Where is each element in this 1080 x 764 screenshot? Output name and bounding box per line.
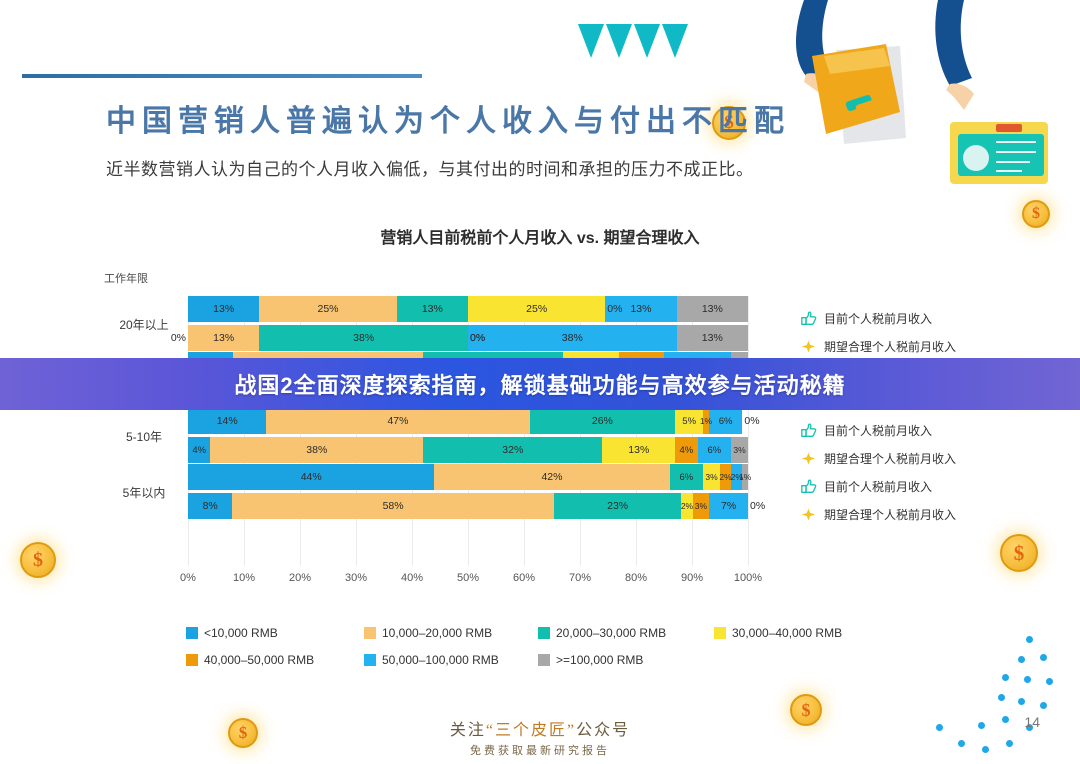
series-callout-label: 目前个人税前月收入 — [824, 422, 932, 439]
bar-segment[interactable]: 14% — [188, 408, 266, 434]
bar-segment[interactable]: 58% — [232, 493, 554, 519]
watermark-brand: 三个皮匠 — [495, 722, 567, 739]
x-axis-tick: 30% — [345, 572, 367, 584]
watermark-subtext: 免费获取最新研究报告 — [0, 742, 1080, 758]
bar-segment[interactable]: 47% — [266, 408, 529, 434]
legend-row: 40,000–50,000 RMB50,000–100,000 RMB>=100… — [186, 653, 806, 669]
promo-banner[interactable]: 战国2全面深度探索指南，解锁基础功能与高效参与活动秘籍 — [0, 358, 1080, 410]
watermark-quote-open: “ — [486, 722, 495, 739]
x-axis-tick: 70% — [569, 572, 591, 584]
watermark-suffix: 公众号 — [576, 722, 630, 739]
promo-banner-text: 战国2全面深度探索指南，解锁基础功能与高效参与活动秘籍 — [234, 368, 845, 400]
hands-documents-illustration — [760, 0, 1080, 200]
x-axis-tick: 10% — [233, 572, 255, 584]
stacked-bar[interactable]: 14%47%26%5%1%6%0% — [188, 408, 748, 434]
bar-segment-label: 23% — [607, 500, 628, 512]
legend-item[interactable]: 20,000–30,000 RMB — [538, 626, 666, 640]
bar-segment[interactable]: 6% — [670, 464, 704, 490]
bar-segment[interactable]: 6% — [709, 408, 743, 434]
x-axis: 0%10%20%30%40%50%60%70%80%90%100% — [188, 572, 748, 592]
legend-item[interactable]: 10,000–20,000 RMB — [364, 626, 492, 640]
bar-segment-label: 38% — [562, 332, 583, 344]
bar-segment-label: 42% — [541, 471, 562, 483]
bar-segment-label: 58% — [383, 500, 404, 512]
bar-segment[interactable]: 2% — [720, 464, 731, 490]
x-axis-tick: 0% — [180, 572, 196, 584]
bar-segment-label: 4% — [192, 445, 206, 456]
bar-segment-label: 0% — [171, 332, 186, 344]
bar-segment-label: 2% — [681, 501, 693, 511]
bar-segment-label: 0% — [750, 500, 765, 512]
bar-segment[interactable]: 3% — [703, 464, 720, 490]
star-burst-icon — [800, 451, 817, 466]
series-callout-label: 期望合理个人税前月收入 — [824, 506, 956, 523]
bar-segment[interactable]: 13% — [188, 296, 259, 322]
bar-segment[interactable]: 32% — [423, 437, 602, 463]
bar-segment[interactable]: 6% — [698, 437, 732, 463]
bar-segment[interactable]: 4% — [675, 437, 697, 463]
legend-label: 40,000–50,000 RMB — [204, 653, 314, 667]
bar-segment-label: 5% — [682, 416, 696, 427]
series-callout-label: 期望合理个人税前月收入 — [824, 338, 956, 355]
series-callout-expected-income: 期望合理个人税前月收入 — [800, 450, 956, 467]
bar-segment[interactable]: 13% — [602, 437, 675, 463]
x-axis-tick: 20% — [289, 572, 311, 584]
bar-segment[interactable]: 3% — [731, 437, 748, 463]
bar-segment[interactable]: 38% — [210, 437, 423, 463]
x-axis-tick: 90% — [681, 572, 703, 584]
bar-segment-label: 0% — [470, 332, 485, 344]
bar-segment[interactable]: 3% — [693, 493, 710, 519]
legend-row: <10,000 RMB10,000–20,000 RMB20,000–30,00… — [186, 626, 806, 642]
x-axis-tick: 50% — [457, 572, 479, 584]
bar-segment[interactable]: 42% — [434, 464, 669, 490]
stacked-bar[interactable]: 0%13%38%0%0%38%13% — [188, 325, 748, 351]
y-axis-label: 20年以上 — [100, 316, 188, 333]
bar-segment[interactable]: 8% — [188, 493, 232, 519]
bar-segment-label: 6% — [719, 416, 733, 427]
bar-segment[interactable]: 1% — [742, 464, 748, 490]
bar-segment[interactable]: 26% — [530, 408, 676, 434]
legend-label: <10,000 RMB — [204, 626, 278, 640]
bar-segment[interactable]: 13% — [188, 325, 259, 351]
bar-segment-label: 25% — [526, 303, 547, 315]
y-axis-label: 5年以内 — [100, 484, 188, 501]
legend-item[interactable]: <10,000 RMB — [186, 626, 278, 640]
legend-label: 10,000–20,000 RMB — [382, 626, 492, 640]
series-callout-label: 目前个人税前月收入 — [824, 310, 932, 327]
bar-segment-label: 25% — [318, 303, 339, 315]
legend-item[interactable]: 30,000–40,000 RMB — [714, 626, 842, 640]
thumbs-up-icon — [800, 311, 817, 326]
bar-segment[interactable]: 23% — [554, 493, 682, 519]
legend-swatch — [714, 627, 726, 639]
bar-segment-label: 38% — [306, 444, 327, 456]
bar-segment-label: 6% — [680, 472, 694, 483]
watermark: 关注“三个皮匠”公众号 免费获取最新研究报告 — [0, 716, 1080, 758]
series-callout-expected-income: 期望合理个人税前月收入 — [800, 506, 956, 523]
bar-segment-label: 13% — [628, 444, 649, 456]
legend-item[interactable]: >=100,000 RMB — [538, 653, 643, 667]
legend-label: 20,000–30,000 RMB — [556, 626, 666, 640]
watermark-quote-close: ” — [567, 722, 576, 739]
legend-label: 30,000–40,000 RMB — [732, 626, 842, 640]
bar-segment[interactable]: 7% — [709, 493, 748, 519]
star-burst-icon — [800, 507, 817, 522]
x-axis-tick: 80% — [625, 572, 647, 584]
bar-segment[interactable]: 38% — [468, 325, 677, 351]
bar-segment-label: 14% — [217, 415, 238, 427]
bar-segment-label: 7% — [721, 500, 736, 512]
bar-segment-label: 1% — [700, 416, 712, 426]
legend-swatch — [364, 654, 376, 666]
y-axis-label: 5-10年 — [100, 428, 188, 445]
legend-swatch — [538, 654, 550, 666]
x-axis-tick: 60% — [513, 572, 535, 584]
chart-plot-area: 20年以上13%25%13%25%0%13%13%0%13%38%0%0%38%… — [188, 296, 748, 566]
x-axis-tick: 40% — [401, 572, 423, 584]
bar-segment-label: 4% — [680, 445, 694, 456]
page-subtitle: 近半数营销人认为自己的个人月收入偏低，与其付出的时间和承担的压力不成正比。 — [106, 155, 754, 180]
bar-segment-label: 13% — [630, 303, 651, 315]
chart-title: 营销人目前税前个人月收入 vs. 期望合理收入 — [0, 224, 1080, 248]
stacked-bar[interactable]: 8%58%23%2%3%7%0% — [188, 493, 748, 519]
bar-segment-label: 0% — [607, 303, 622, 315]
bar-segment[interactable]: 2% — [681, 493, 692, 519]
bar-segment-label: 32% — [502, 444, 523, 456]
legend-swatch — [186, 654, 198, 666]
stacked-bar[interactable]: 44%42%6%3%2%2%1% — [188, 464, 748, 490]
bar-segment-label: 13% — [213, 303, 234, 315]
watermark-prefix: 关注 — [450, 722, 486, 739]
bar-segment-label: 3% — [733, 445, 745, 455]
star-burst-icon — [800, 339, 817, 354]
page-title: 中国营销人普遍认为个人收入与付出不匹配 — [106, 96, 790, 140]
bar-segment[interactable]: 25% — [259, 296, 396, 322]
bar-segment[interactable]: 25% — [468, 296, 605, 322]
triangle-decoration — [578, 24, 688, 58]
bar-segment[interactable]: 13% — [677, 325, 748, 351]
coin-decoration: $ — [1000, 534, 1038, 572]
gridline — [748, 296, 749, 566]
bar-segment[interactable]: 13% — [677, 296, 748, 322]
stacked-bar[interactable]: 4%38%32%13%4%6%3% — [188, 437, 748, 463]
series-callout-expected-income: 期望合理个人税前月收入 — [800, 338, 956, 355]
bar-segment-label: 13% — [702, 303, 723, 315]
thumbs-up-icon — [800, 479, 817, 494]
x-axis-tick: 100% — [734, 572, 762, 584]
bar-segment[interactable]: 38% — [259, 325, 468, 351]
coin-decoration: $ — [20, 542, 56, 578]
bar-segment-label: 1% — [739, 472, 751, 482]
series-callout-current-income: 目前个人税前月收入 — [800, 478, 932, 495]
bar-segment-label: 26% — [592, 415, 613, 427]
stacked-bar[interactable]: 13%25%13%25%0%13%13% — [188, 296, 748, 322]
legend-swatch — [364, 627, 376, 639]
bar-segment-label: 47% — [387, 415, 408, 427]
bar-segment-label: 13% — [702, 332, 723, 344]
legend-swatch — [538, 627, 550, 639]
bar-segment-label: 13% — [422, 303, 443, 315]
bar-segment[interactable]: 13% — [397, 296, 468, 322]
bar-segment-label: 38% — [353, 332, 374, 344]
bar-segment-label: 44% — [301, 471, 322, 483]
series-callout-label: 期望合理个人税前月收入 — [824, 450, 956, 467]
legend-item[interactable]: 50,000–100,000 RMB — [364, 653, 499, 667]
bar-segment-label: 8% — [203, 500, 218, 512]
chart-legend: <10,000 RMB10,000–20,000 RMB20,000–30,00… — [186, 626, 806, 680]
legend-label: 50,000–100,000 RMB — [382, 653, 499, 667]
series-callout-current-income: 目前个人税前月收入 — [800, 422, 932, 439]
bar-segment-label: 13% — [213, 332, 234, 344]
bar-segment-label: 0% — [744, 415, 759, 427]
bar-segment-label: 3% — [695, 501, 707, 511]
legend-swatch — [186, 627, 198, 639]
series-callout-current-income: 目前个人税前月收入 — [800, 310, 932, 327]
series-callout-label: 目前个人税前月收入 — [824, 478, 932, 495]
bar-segment-label: 6% — [707, 445, 721, 456]
legend-item[interactable]: 40,000–50,000 RMB — [186, 653, 314, 667]
bar-segment[interactable]: 44% — [188, 464, 434, 490]
y-axis-header: 工作年限 — [104, 270, 148, 286]
top-rule-decoration — [22, 74, 422, 78]
slide-canvas: $ $ $ $ $ $ 中国营销人普遍认为个人收入与付出不匹配 近半数营销人认为… — [0, 0, 1080, 764]
legend-label: >=100,000 RMB — [556, 653, 643, 667]
bar-segment-label: 3% — [705, 472, 717, 482]
bar-segment[interactable]: 4% — [188, 437, 210, 463]
thumbs-up-icon — [800, 423, 817, 438]
